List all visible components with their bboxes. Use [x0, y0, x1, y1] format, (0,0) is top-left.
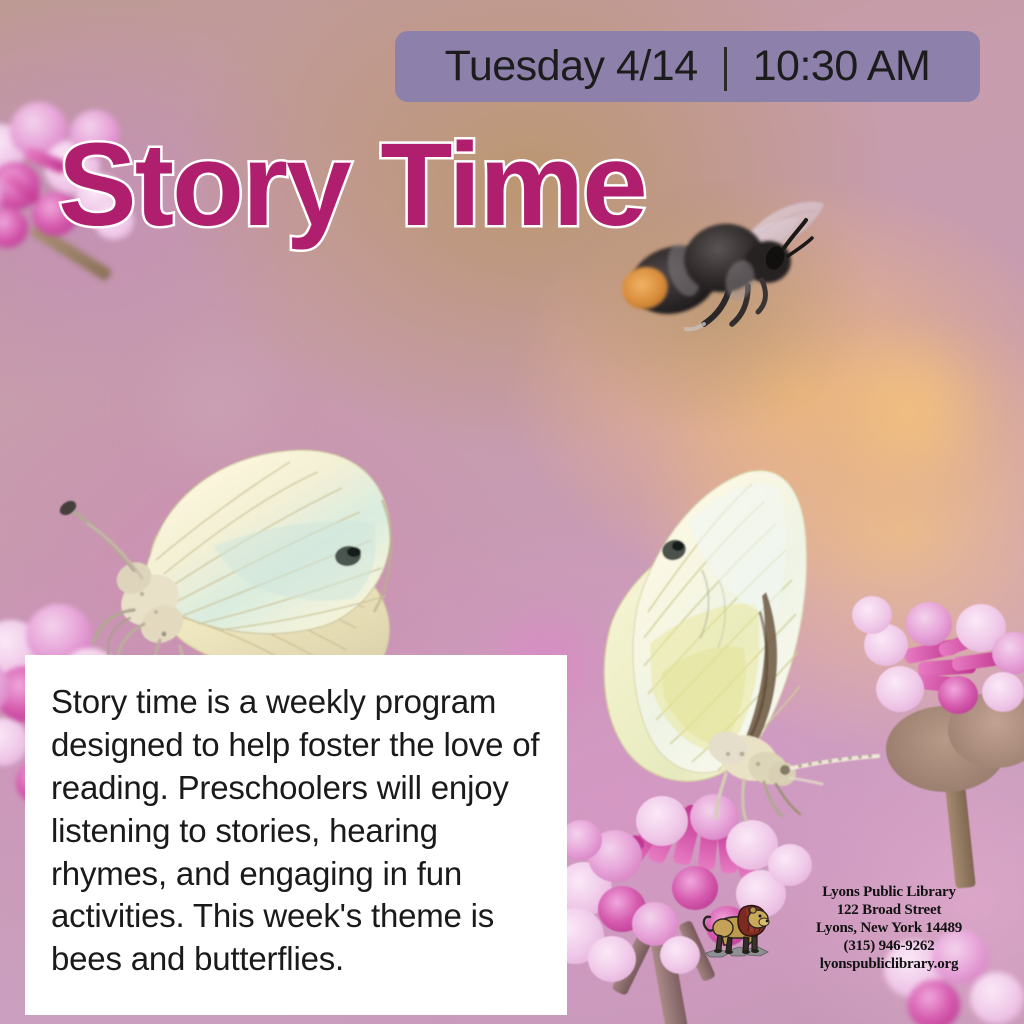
banner-date: Tuesday 4/14 — [445, 45, 698, 88]
library-info: Lyons Public Library 122 Broad Street Ly… — [700, 878, 1000, 978]
description-text: Story time is a weekly program designed … — [51, 681, 543, 981]
story-time-flyer: Tuesday 4/14 10:30 AM Story Time Story t… — [0, 0, 1024, 1024]
library-street: 122 Broad Street — [778, 901, 1000, 919]
description-box: Story time is a weekly program designed … — [25, 655, 567, 1015]
library-city: Lyons, New York 14489 — [778, 919, 1000, 937]
banner-time: 10:30 AM — [753, 45, 931, 88]
lion-logo-icon — [700, 895, 772, 961]
butterfly-right-icon — [552, 462, 882, 822]
library-phone: (315) 946-9262 — [778, 937, 1000, 955]
page-title: Story Time — [58, 126, 646, 244]
library-address-lines: Lyons Public Library 122 Broad Street Ly… — [778, 883, 1000, 973]
banner-separator — [724, 47, 727, 91]
date-time-banner: Tuesday 4/14 10:30 AM — [395, 31, 980, 102]
library-website: lyonspubliclibrary.org — [778, 955, 1000, 973]
library-name: Lyons Public Library — [778, 883, 1000, 901]
